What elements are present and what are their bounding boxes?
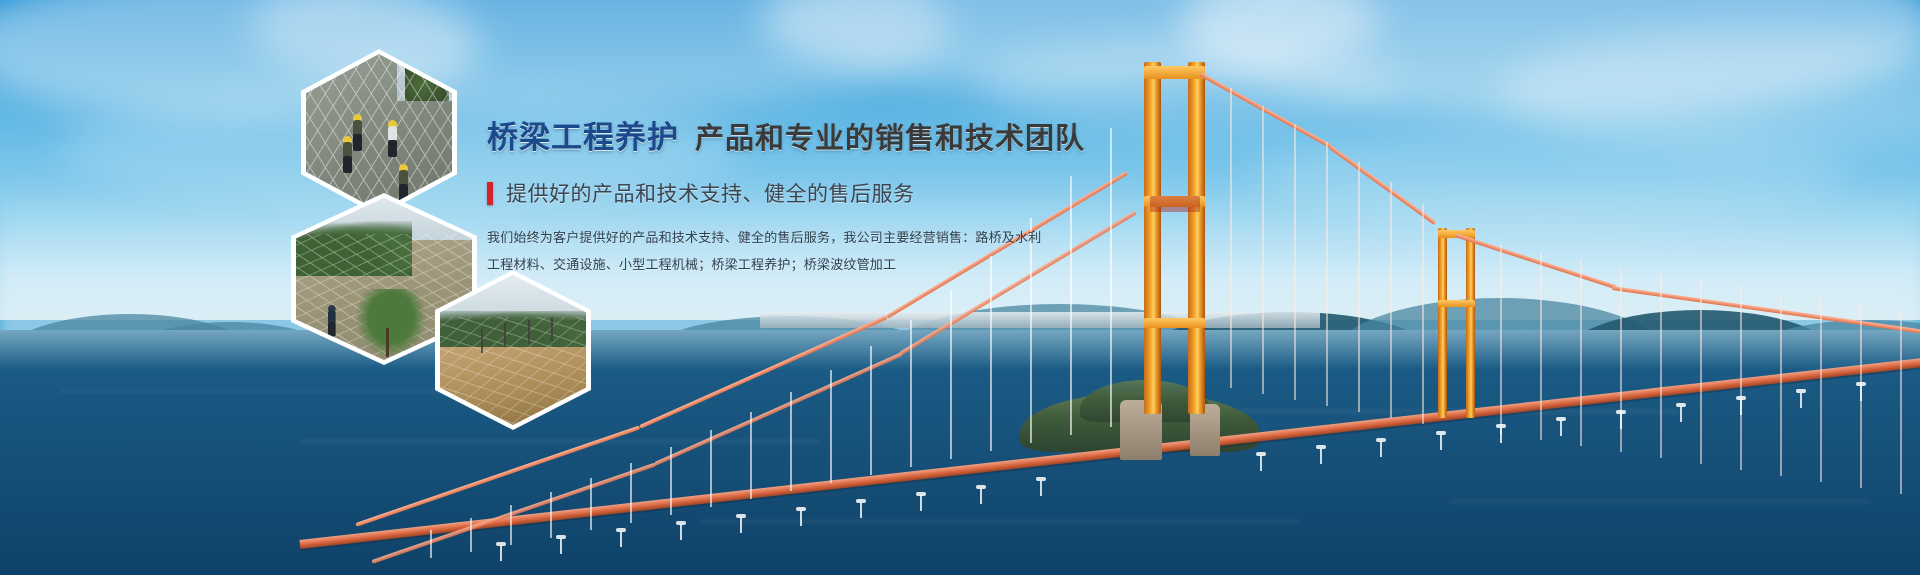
bridge-tower-crossbeam — [1144, 66, 1205, 79]
bridge-lamp — [1560, 420, 1562, 436]
hex-photo-slope-netting-workers[interactable] — [301, 49, 457, 216]
bridge-far-tower-leg — [1466, 228, 1475, 418]
description: 我们始终为客户提供好的产品和技术支持、健全的售后服务，我公司主要经营销售：路桥及… — [487, 228, 1247, 275]
bridge-main-cable — [1454, 233, 1617, 289]
headline-secondary: 产品和专业的销售和技术团队 — [695, 123, 1085, 155]
bridge-lamp — [620, 531, 622, 547]
description-line-1: 我们始终为客户提供好的产品和技术支持、健全的售后服务，我公司主要经营销售：路桥及… — [487, 228, 1247, 248]
bridge-far-tower-leg — [1438, 228, 1447, 418]
bridge-lamp — [1800, 392, 1802, 408]
subheadline: 提供好的产品和技术支持、健全的售后服务 — [487, 178, 1247, 208]
bridge-lamp — [560, 538, 562, 554]
bridge-lamp — [860, 502, 862, 518]
bridge-main-cable — [654, 352, 902, 465]
bridge-lamp — [1740, 399, 1742, 415]
bridge-lamp — [1260, 455, 1262, 471]
hero-banner: 桥梁工程养护产品和专业的销售和技术团队 提供好的产品和技术支持、健全的售后服务 … — [0, 0, 1920, 575]
bridge-lamp — [800, 510, 802, 526]
hex-photo-dry-slope-netting[interactable] — [435, 270, 591, 430]
bridge-main-cable — [639, 315, 887, 428]
bridge-lamp — [1860, 385, 1862, 401]
bridge-lamp — [1440, 434, 1442, 450]
description-line-2: 工程材料、交通设施、小型工程机械；桥梁工程养护；桥梁波纹管加工 — [487, 255, 1247, 275]
bridge-tower-crossbeam — [1144, 318, 1205, 328]
headline-primary: 桥梁工程养护 — [487, 120, 679, 155]
bridge-main-cable — [1612, 286, 1920, 334]
subheadline-text: 提供好的产品和技术支持、健全的售后服务 — [506, 178, 915, 208]
bridge-tower-crossbeam — [1438, 300, 1475, 307]
headline: 桥梁工程养护产品和专业的销售和技术团队 — [487, 122, 1247, 154]
accent-bar-icon — [487, 182, 493, 205]
suspension-bridge — [0, 0, 1920, 575]
bridge-lamp — [980, 488, 982, 504]
bridge-lamp — [1500, 427, 1502, 443]
bridge-lamp — [740, 517, 742, 533]
bridge-lamp — [1680, 406, 1682, 422]
bridge-main-cable — [1329, 145, 1437, 225]
bridge-lamp — [1380, 441, 1382, 457]
bridge-lamp — [1320, 448, 1322, 464]
banner-copy: 桥梁工程养护产品和专业的销售和技术团队 提供好的产品和技术支持、健全的售后服务 … — [487, 122, 1247, 282]
bridge-lamp — [1040, 480, 1042, 496]
bridge-lamp — [500, 545, 502, 561]
bridge-lamp — [920, 495, 922, 511]
bridge-lamp — [680, 524, 682, 540]
bridge-lamp — [1620, 413, 1622, 429]
